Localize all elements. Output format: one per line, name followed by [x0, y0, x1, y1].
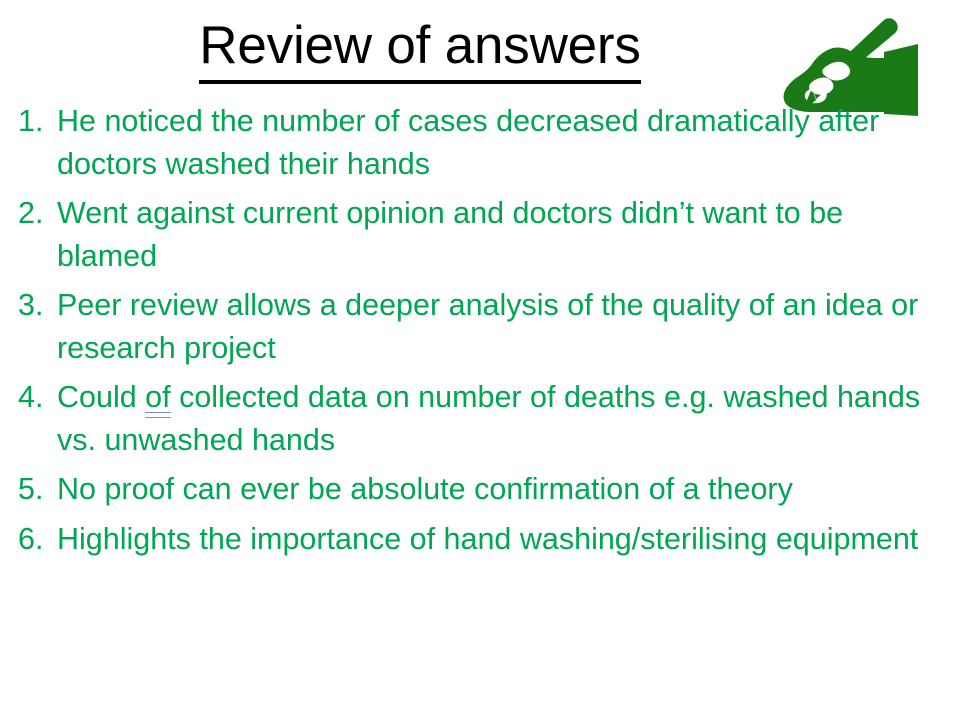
list-item-text: Peer review allows a deeper analysis of … — [57, 284, 978, 369]
page-title: Review of answers — [0, 14, 840, 78]
list-item-number: 4. — [0, 376, 57, 419]
title-row: Review of answers — [0, 14, 978, 86]
list-item-text: Went against current opinion and doctors… — [57, 192, 978, 277]
list-item-text: Highlights the importance of hand washin… — [57, 518, 978, 561]
list-item-text: Could of collected data on number of dea… — [57, 376, 978, 461]
page-title-text: Review of answers — [199, 16, 640, 84]
list-item-text-before: Could — [57, 380, 145, 414]
list-item-text-after: collected data on number of deaths e.g. … — [57, 380, 920, 457]
list-item-number: 1. — [0, 100, 57, 143]
list-item-number: 3. — [0, 284, 57, 327]
list-item: 3. Peer review allows a deeper analysis … — [0, 284, 978, 369]
slide-canvas: Review of answers — [0, 0, 978, 712]
answer-list: 1. He noticed the number of cases decrea… — [0, 100, 978, 567]
list-item: 1. He noticed the number of cases decrea… — [0, 100, 978, 185]
list-item: 5. No proof can ever be absolute confirm… — [0, 468, 978, 511]
list-item: 2. Went against current opinion and doct… — [0, 192, 978, 277]
list-item-number: 5. — [0, 468, 57, 511]
list-item-text: No proof can ever be absolute confirmati… — [57, 468, 978, 511]
list-item-number: 6. — [0, 518, 57, 561]
list-item-number: 2. — [0, 192, 57, 235]
list-item-text: He noticed the number of cases decreased… — [57, 100, 978, 185]
list-item: 6. Highlights the importance of hand was… — [0, 518, 978, 561]
list-item: 4. Could of collected data on number of … — [0, 376, 978, 461]
grammar-flagged-word: of — [145, 376, 170, 419]
